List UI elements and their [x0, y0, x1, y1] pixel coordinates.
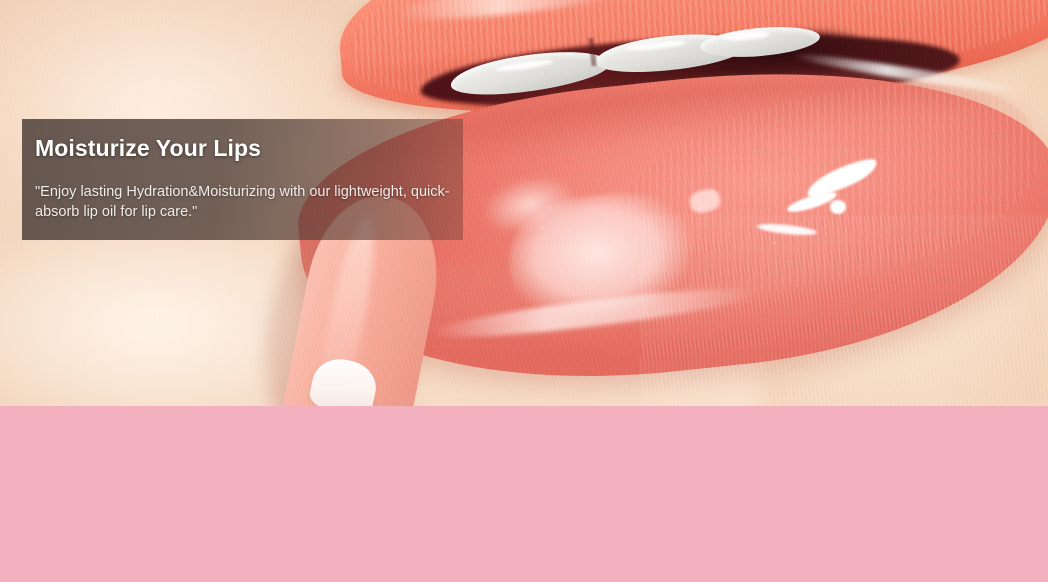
hero-caption-subtitle: "Enjoy lasting Hydration&Moisturizing wi…	[35, 182, 450, 222]
applicator-tip	[307, 354, 380, 406]
lip-gloss-specular	[757, 222, 818, 237]
lip-gloss-rim	[430, 280, 761, 346]
right-cheek-skin	[760, 40, 1048, 406]
hero-photo: Moisturize Your Lips "Enjoy lasting Hydr…	[0, 0, 1048, 406]
skin-fuzz-texture	[640, 215, 1048, 406]
how-to-use-section: HOW TO USE Apply the lip oil directly on…	[0, 406, 1048, 582]
lip-vertical-lines	[607, 60, 1048, 315]
lip-gloss-sparkle	[489, 124, 892, 365]
lip-gloss-specular	[688, 187, 722, 216]
product-banner: Moisturize Your Lips "Enjoy lasting Hydr…	[0, 0, 1048, 582]
lip-gloss-specular	[785, 188, 838, 215]
lip-gloss-patch	[503, 184, 713, 342]
lip-gloss-patch	[464, 158, 596, 251]
lip-gloss-specular	[803, 153, 881, 202]
finger-shadow	[254, 226, 346, 406]
chin-highlight	[0, 235, 390, 406]
lower-lip-bottom-edge	[296, 222, 944, 397]
upper-lip-gloss	[394, 0, 625, 26]
fingertip-highlight	[310, 214, 383, 406]
tooth	[699, 23, 821, 61]
lip-gloss-specular	[830, 200, 846, 214]
hero-caption-title: Moisturize Your Lips	[35, 135, 455, 162]
tooth	[448, 44, 611, 102]
upper-lip-gloss	[791, 49, 1030, 98]
